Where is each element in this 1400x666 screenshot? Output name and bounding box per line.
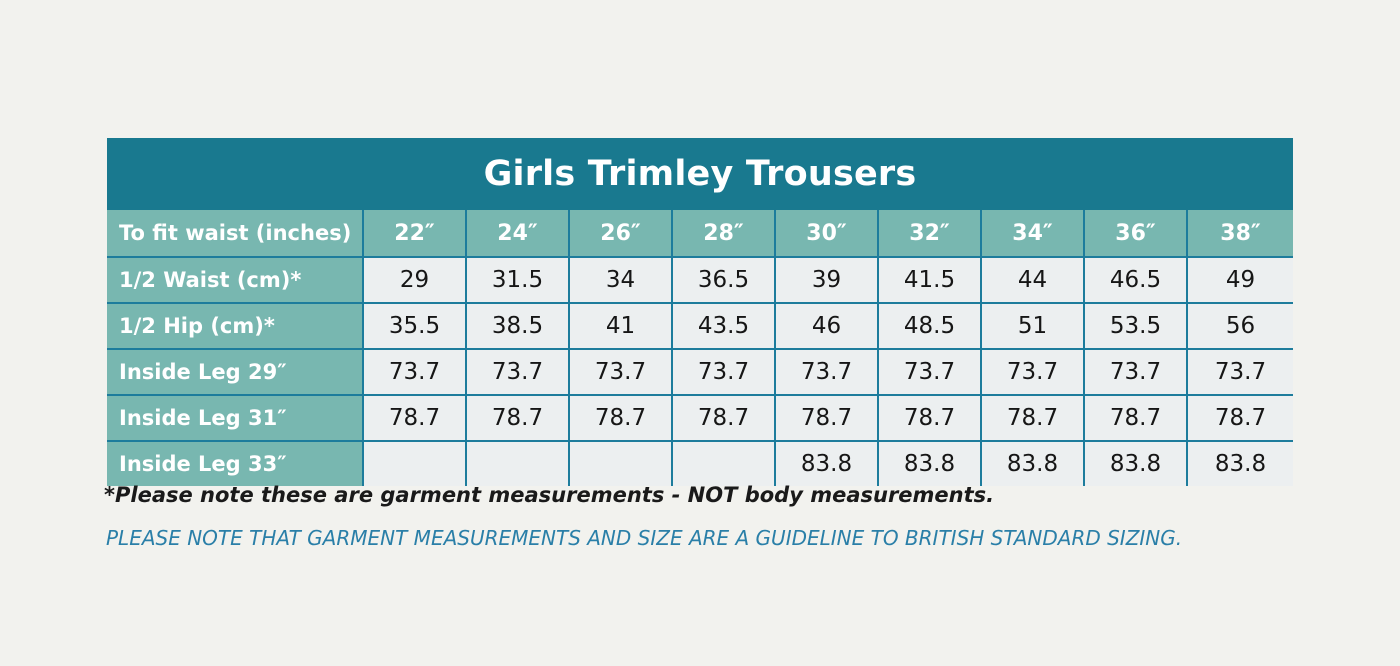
- cell-inside-leg-29-28: 73.7: [673, 350, 776, 396]
- size-chart-page: Girls Trimley Trousers To fit waist (inc…: [0, 0, 1400, 666]
- cell-half-waist-24: 31.5: [467, 258, 570, 304]
- cell-inside-leg-29-26: 73.7: [570, 350, 673, 396]
- column-header-32: 32″: [879, 210, 982, 258]
- cell-inside-leg-31-30: 78.7: [776, 396, 879, 442]
- table-row: Inside Leg 29″ 73.7 73.7 73.7 73.7 73.7 …: [107, 350, 1293, 396]
- cell-half-hip-24: 38.5: [467, 304, 570, 350]
- cell-half-hip-34: 51: [982, 304, 1085, 350]
- cell-half-waist-30: 39: [776, 258, 879, 304]
- corner-header-label: To fit waist (inches): [107, 210, 364, 258]
- cell-half-waist-34: 44: [982, 258, 1085, 304]
- cell-inside-leg-31-34: 78.7: [982, 396, 1085, 442]
- cell-half-hip-38: 56: [1188, 304, 1293, 350]
- column-header-38: 38″: [1188, 210, 1293, 258]
- cell-half-hip-26: 41: [570, 304, 673, 350]
- cell-half-hip-22: 35.5: [364, 304, 467, 350]
- row-header-half-waist: 1/2 Waist (cm)*: [107, 258, 364, 304]
- size-chart-container: Girls Trimley Trousers To fit waist (inc…: [107, 138, 1293, 486]
- cell-half-waist-32: 41.5: [879, 258, 982, 304]
- table-title-row: Girls Trimley Trousers: [107, 138, 1293, 210]
- cell-inside-leg-29-30: 73.7: [776, 350, 879, 396]
- column-header-28: 28″: [673, 210, 776, 258]
- cell-inside-leg-31-28: 78.7: [673, 396, 776, 442]
- row-header-inside-leg-33: Inside Leg 33″: [107, 442, 364, 486]
- cell-half-waist-22: 29: [364, 258, 467, 304]
- cell-half-waist-26: 34: [570, 258, 673, 304]
- cell-half-hip-28: 43.5: [673, 304, 776, 350]
- cell-half-hip-30: 46: [776, 304, 879, 350]
- cell-inside-leg-31-24: 78.7: [467, 396, 570, 442]
- table-row: Inside Leg 31″ 78.7 78.7 78.7 78.7 78.7 …: [107, 396, 1293, 442]
- cell-inside-leg-29-32: 73.7: [879, 350, 982, 396]
- cell-inside-leg-33-24: [467, 442, 570, 486]
- row-header-inside-leg-31: Inside Leg 31″: [107, 396, 364, 442]
- cell-inside-leg-33-38: 83.8: [1188, 442, 1293, 486]
- column-header-30: 30″: [776, 210, 879, 258]
- garment-measurement-note: *Please note these are garment measureme…: [104, 483, 994, 507]
- column-header-22: 22″: [364, 210, 467, 258]
- cell-inside-leg-31-26: 78.7: [570, 396, 673, 442]
- chart-title: Girls Trimley Trousers: [107, 138, 1293, 210]
- cell-inside-leg-29-36: 73.7: [1085, 350, 1188, 396]
- cell-inside-leg-33-32: 83.8: [879, 442, 982, 486]
- cell-inside-leg-33-34: 83.8: [982, 442, 1085, 486]
- cell-inside-leg-29-34: 73.7: [982, 350, 1085, 396]
- size-chart-table: Girls Trimley Trousers To fit waist (inc…: [107, 138, 1293, 486]
- table-header-row: To fit waist (inches) 22″ 24″ 26″ 28″ 30…: [107, 210, 1293, 258]
- cell-inside-leg-33-22: [364, 442, 467, 486]
- cell-half-waist-36: 46.5: [1085, 258, 1188, 304]
- cell-inside-leg-33-36: 83.8: [1085, 442, 1188, 486]
- column-header-26: 26″: [570, 210, 673, 258]
- table-row: 1/2 Hip (cm)* 35.5 38.5 41 43.5 46 48.5 …: [107, 304, 1293, 350]
- table-row: 1/2 Waist (cm)* 29 31.5 34 36.5 39 41.5 …: [107, 258, 1293, 304]
- cell-inside-leg-31-22: 78.7: [364, 396, 467, 442]
- column-header-36: 36″: [1085, 210, 1188, 258]
- cell-half-hip-36: 53.5: [1085, 304, 1188, 350]
- british-standard-sizing-note: PLEASE NOTE THAT GARMENT MEASUREMENTS AN…: [106, 526, 1182, 550]
- row-header-half-hip: 1/2 Hip (cm)*: [107, 304, 364, 350]
- cell-inside-leg-29-24: 73.7: [467, 350, 570, 396]
- cell-inside-leg-33-26: [570, 442, 673, 486]
- column-header-34: 34″: [982, 210, 1085, 258]
- cell-half-hip-32: 48.5: [879, 304, 982, 350]
- cell-half-waist-28: 36.5: [673, 258, 776, 304]
- row-header-inside-leg-29: Inside Leg 29″: [107, 350, 364, 396]
- table-row: Inside Leg 33″ 83.8 83.8 83.8 83.8 83.8: [107, 442, 1293, 486]
- cell-inside-leg-33-30: 83.8: [776, 442, 879, 486]
- column-header-24: 24″: [467, 210, 570, 258]
- cell-inside-leg-31-38: 78.7: [1188, 396, 1293, 442]
- cell-inside-leg-31-32: 78.7: [879, 396, 982, 442]
- cell-inside-leg-29-22: 73.7: [364, 350, 467, 396]
- cell-inside-leg-29-38: 73.7: [1188, 350, 1293, 396]
- cell-inside-leg-33-28: [673, 442, 776, 486]
- cell-inside-leg-31-36: 78.7: [1085, 396, 1188, 442]
- cell-half-waist-38: 49: [1188, 258, 1293, 304]
